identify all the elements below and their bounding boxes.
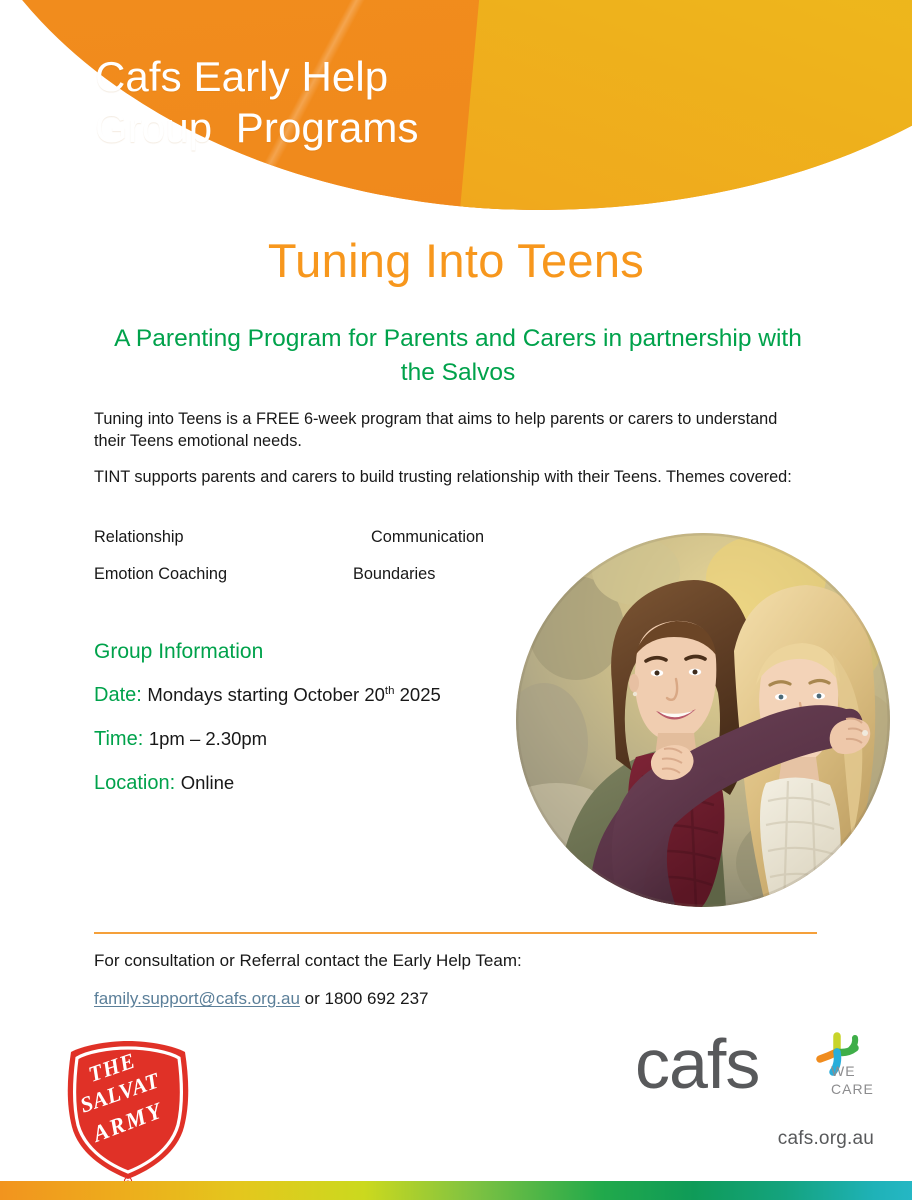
cafs-wordmark-text: cafs bbox=[635, 1030, 759, 1103]
hero-photo bbox=[516, 533, 890, 907]
header-banner: Cafs Early Help Group Programs bbox=[0, 0, 912, 218]
theme-row: Emotion Coaching Boundaries bbox=[94, 565, 614, 602]
contact-details: family.support@cafs.org.au or 1800 692 2… bbox=[94, 989, 428, 1009]
date-value: Mondays starting October 20th 2025 bbox=[147, 684, 440, 705]
header-title-line2: Group Programs bbox=[95, 104, 419, 151]
cafs-website-url: cafs.org.au bbox=[635, 1128, 880, 1150]
contact-prompt: For consultation or Referral contact the… bbox=[94, 951, 522, 971]
date-label: Date: bbox=[94, 684, 142, 706]
location-label: Location: bbox=[94, 772, 175, 794]
cafs-tagline-care: CARE bbox=[831, 1081, 874, 1097]
group-info-time-row: Time: 1pm – 2.30pm bbox=[94, 727, 524, 751]
cafs-wordmark-icon: cafs WE CARE bbox=[635, 1030, 880, 1105]
date-value-year: 2025 bbox=[395, 684, 441, 705]
salvation-army-shield-icon: THE SALVATION ARMY R bbox=[56, 1034, 201, 1186]
cafs-tagline-we: WE bbox=[831, 1063, 856, 1079]
date-ordinal-suffix: th bbox=[385, 685, 395, 697]
group-info-location-row: Location: Online bbox=[94, 771, 524, 795]
email-phone-separator: or bbox=[300, 989, 325, 1008]
theme-item: Relationship bbox=[94, 528, 184, 547]
themes-list: Relationship Communication Emotion Coach… bbox=[94, 528, 614, 602]
group-information-section: Group Information Date: Mondays starting… bbox=[94, 640, 524, 815]
email-link[interactable]: family.support@cafs.org.au bbox=[94, 989, 300, 1008]
theme-item: Communication bbox=[371, 528, 484, 547]
phone-number: 1800 692 237 bbox=[324, 989, 428, 1008]
theme-row: Relationship Communication bbox=[94, 528, 614, 565]
hero-photo-illustration bbox=[516, 533, 890, 907]
group-info-date-row: Date: Mondays starting October 20th 2025 bbox=[94, 683, 524, 707]
flyer-page: Cafs Early Help Group Programs Tuning In… bbox=[0, 0, 912, 1200]
date-value-main: Mondays starting October 20 bbox=[147, 684, 385, 705]
header-title: Cafs Early Help Group Programs bbox=[95, 52, 419, 154]
cafs-logo: cafs WE CARE bbox=[635, 1030, 880, 1105]
intro-paragraph: Tuning into Teens is a FREE 6-week progr… bbox=[94, 409, 810, 452]
theme-item: Boundaries bbox=[353, 565, 435, 584]
group-information-heading: Group Information bbox=[94, 640, 524, 664]
themes-intro-paragraph: TINT supports parents and carers to buil… bbox=[94, 467, 810, 489]
time-value: 1pm – 2.30pm bbox=[149, 728, 267, 749]
theme-item: Emotion Coaching bbox=[94, 565, 227, 584]
time-label: Time: bbox=[94, 728, 143, 750]
location-value: Online bbox=[181, 772, 234, 793]
program-title: Tuning Into Teens bbox=[0, 233, 912, 288]
bottom-gradient-bar bbox=[0, 1181, 912, 1200]
program-subtitle: A Parenting Program for Parents and Care… bbox=[108, 322, 808, 390]
salvation-army-logo: THE SALVATION ARMY R bbox=[56, 1034, 201, 1186]
footer-divider bbox=[94, 932, 817, 934]
header-title-line1: Cafs Early Help bbox=[95, 53, 388, 100]
